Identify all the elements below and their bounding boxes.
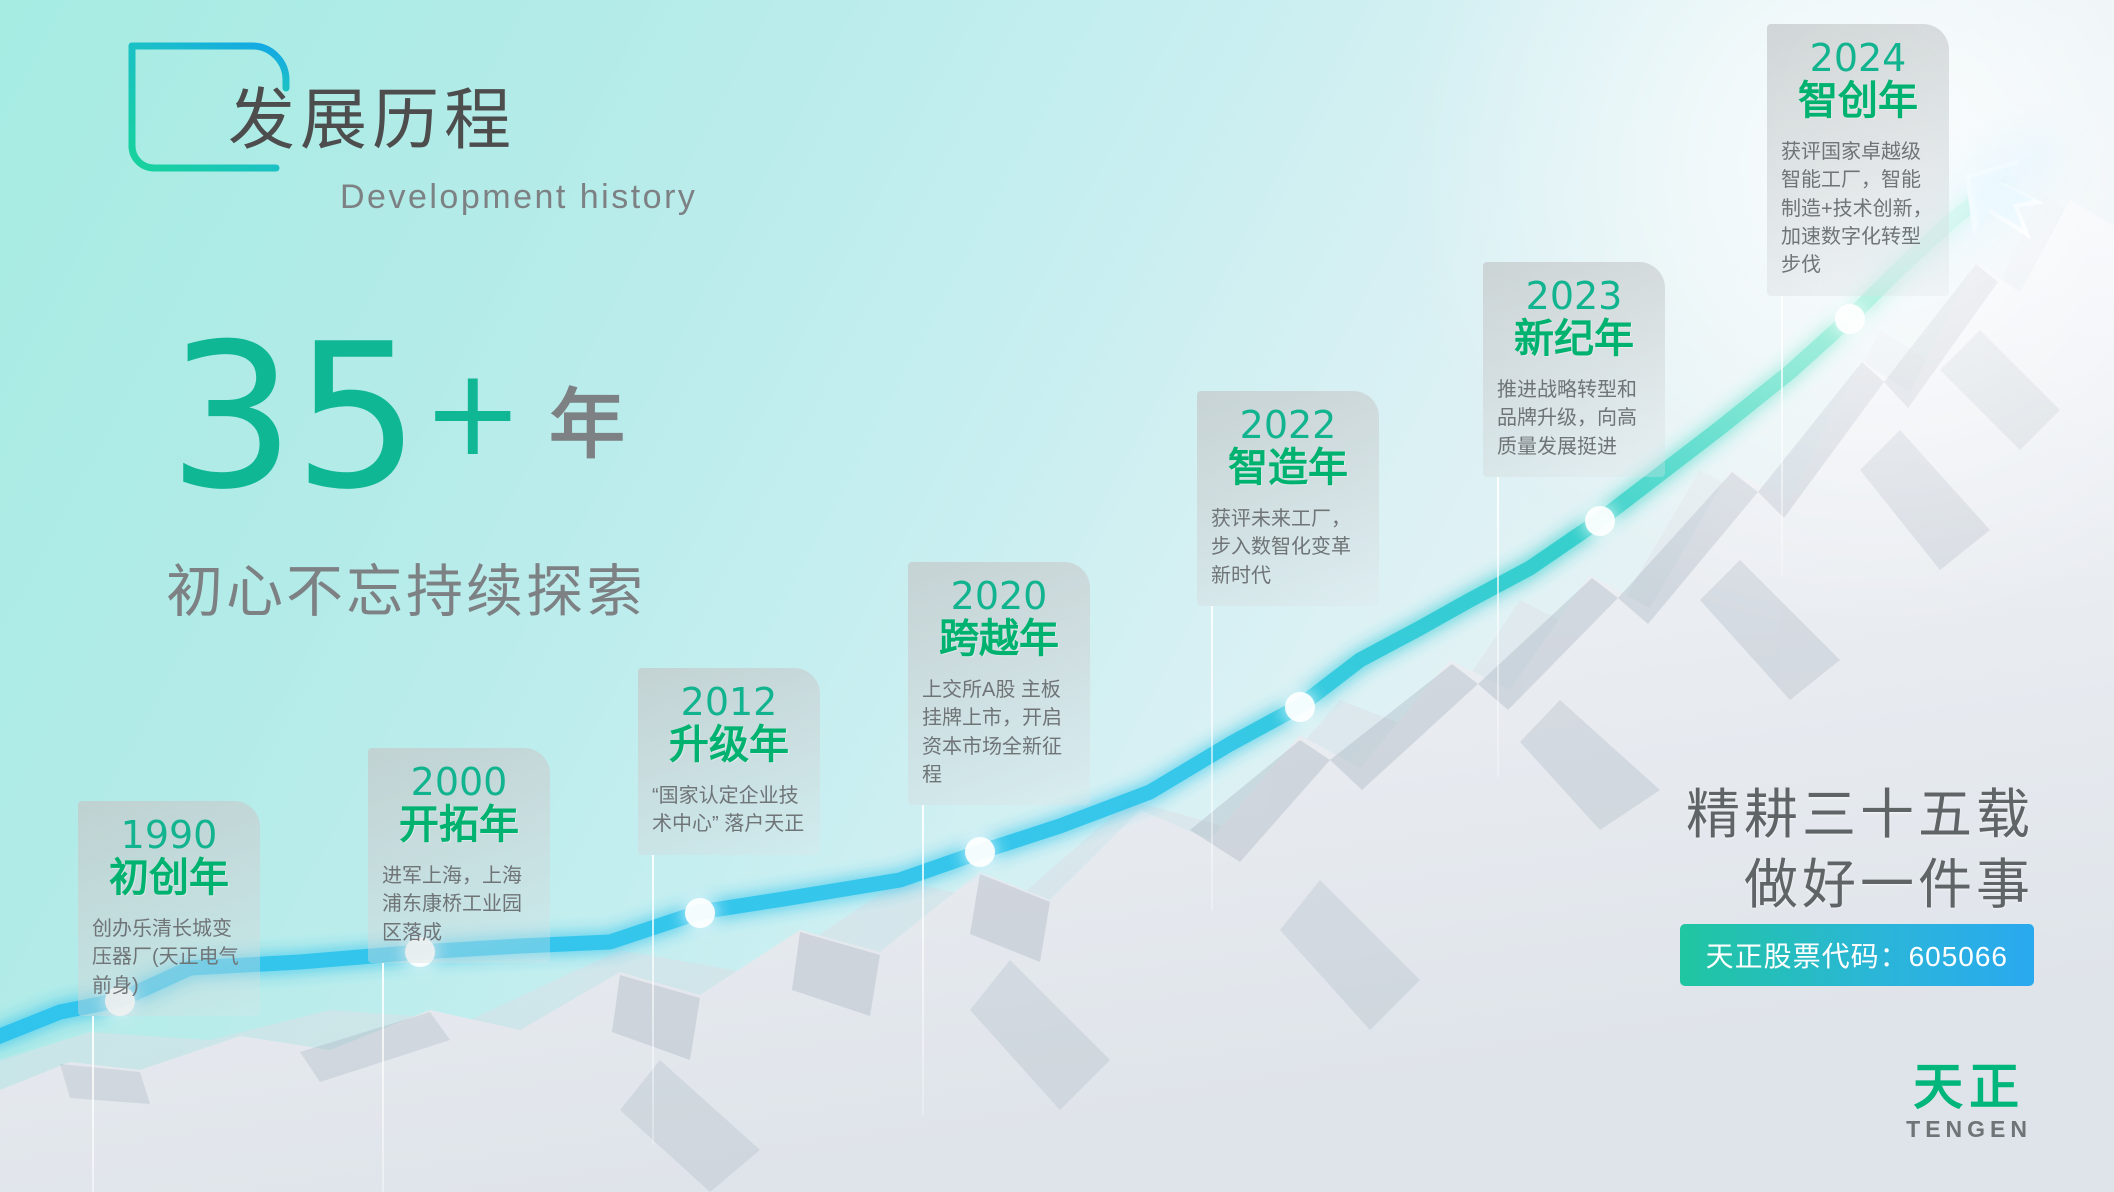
milestone-stem [382, 963, 384, 1192]
milestone-description: 上交所A股 主板挂牌上市，开启资本市场全新征程 [918, 676, 1080, 790]
brand-name-cn: 天正 [1906, 1062, 2032, 1112]
milestone-stem [922, 805, 924, 1115]
milestone-card[interactable]: 2023新纪年推进战略转型和品牌升级，向高质量发展挺进 [1483, 262, 1665, 477]
milestone-card[interactable]: 2000开拓年进军上海，上海浦东康桥工业园区落成 [368, 748, 550, 963]
milestone-card[interactable]: 1990初创年创办乐清长城变压器厂(天正电气前身) [78, 801, 260, 1016]
brand-name-en: TENGEN [1906, 1116, 2032, 1143]
milestone-stem [1497, 477, 1499, 777]
milestone-description: 获评未来工厂，步入数智化变革新时代 [1207, 505, 1369, 590]
hero-years: 35 + 年 [168, 336, 625, 500]
milestone-description: 获评国家卓越级智能工厂，智能制造+技术创新，加速数字化转型步伐 [1777, 138, 1939, 280]
milestone-description: 推进战略转型和品牌升级，向高质量发展挺进 [1493, 376, 1655, 461]
hero-plus: + [423, 354, 524, 474]
milestone-card[interactable]: 2024智创年获评国家卓越级智能工厂，智能制造+技术创新，加速数字化转型步伐 [1767, 24, 1949, 296]
milestone-year: 2020 [918, 576, 1080, 618]
milestone-description: 创办乐清长城变压器厂(天正电气前身) [88, 915, 250, 1000]
slogan: 精耕三十五载 做好一件事 [1686, 780, 2034, 920]
milestone-name: 初创年 [88, 855, 250, 901]
milestone-description: 进军上海，上海浦东康桥工业园区落成 [378, 862, 540, 947]
milestone-card[interactable]: 2020跨越年上交所A股 主板挂牌上市，开启资本市场全新征程 [908, 562, 1090, 805]
milestone-name: 开拓年 [378, 802, 540, 848]
brand-logo: 天正 TENGEN [1906, 1062, 2032, 1143]
milestone-description: “国家认定企业技术中心” 落户天正 [648, 782, 810, 839]
milestone-stem [1211, 606, 1213, 911]
milestone-name: 跨越年 [918, 616, 1080, 662]
milestone-2012[interactable]: 2012升级年“国家认定企业技术中心” 落户天正 [638, 668, 820, 855]
milestone-card[interactable]: 2022智造年获评未来工厂，步入数智化变革新时代 [1197, 391, 1379, 606]
milestone-stem [1781, 296, 1783, 576]
milestone-year: 1990 [88, 815, 250, 857]
milestone-stem [652, 855, 654, 1145]
milestone-name: 新纪年 [1493, 316, 1655, 362]
hero-tagline: 初心不忘持续探索 [166, 546, 646, 628]
stock-code-badge: 天正股票代码：605066 [1680, 924, 2034, 986]
milestone-2020[interactable]: 2020跨越年上交所A股 主板挂牌上市，开启资本市场全新征程 [908, 562, 1090, 805]
milestone-stem [92, 1016, 94, 1192]
milestone-2024[interactable]: 2024智创年获评国家卓越级智能工厂，智能制造+技术创新，加速数字化转型步伐 [1767, 24, 1949, 296]
milestone-name: 升级年 [648, 722, 810, 768]
hero-unit: 年 [549, 388, 625, 464]
milestone-1990[interactable]: 1990初创年创办乐清长城变压器厂(天正电气前身) [78, 801, 260, 1016]
page-title: 发展历程 [228, 66, 516, 163]
milestone-2022[interactable]: 2022智造年获评未来工厂，步入数智化变革新时代 [1197, 391, 1379, 606]
development-history-poster: 发展历程 Development history 35 + 年 初心不忘持续探索… [0, 0, 2114, 1192]
milestone-year: 2022 [1207, 405, 1369, 447]
milestone-2000[interactable]: 2000开拓年进军上海，上海浦东康桥工业园区落成 [368, 748, 550, 963]
milestone-card[interactable]: 2012升级年“国家认定企业技术中心” 落户天正 [638, 668, 820, 855]
slogan-line-2: 做好一件事 [1686, 850, 2034, 920]
hero-number: 35 [168, 336, 419, 500]
milestone-year: 2024 [1777, 38, 1939, 80]
milestone-year: 2012 [648, 682, 810, 724]
milestone-name: 智造年 [1207, 445, 1369, 491]
milestone-year: 2000 [378, 762, 540, 804]
slogan-line-1: 精耕三十五载 [1686, 780, 2034, 850]
milestone-name: 智创年 [1777, 78, 1939, 124]
page-subtitle: Development history [340, 178, 697, 217]
milestone-year: 2023 [1493, 276, 1655, 318]
milestone-2023[interactable]: 2023新纪年推进战略转型和品牌升级，向高质量发展挺进 [1483, 262, 1665, 477]
